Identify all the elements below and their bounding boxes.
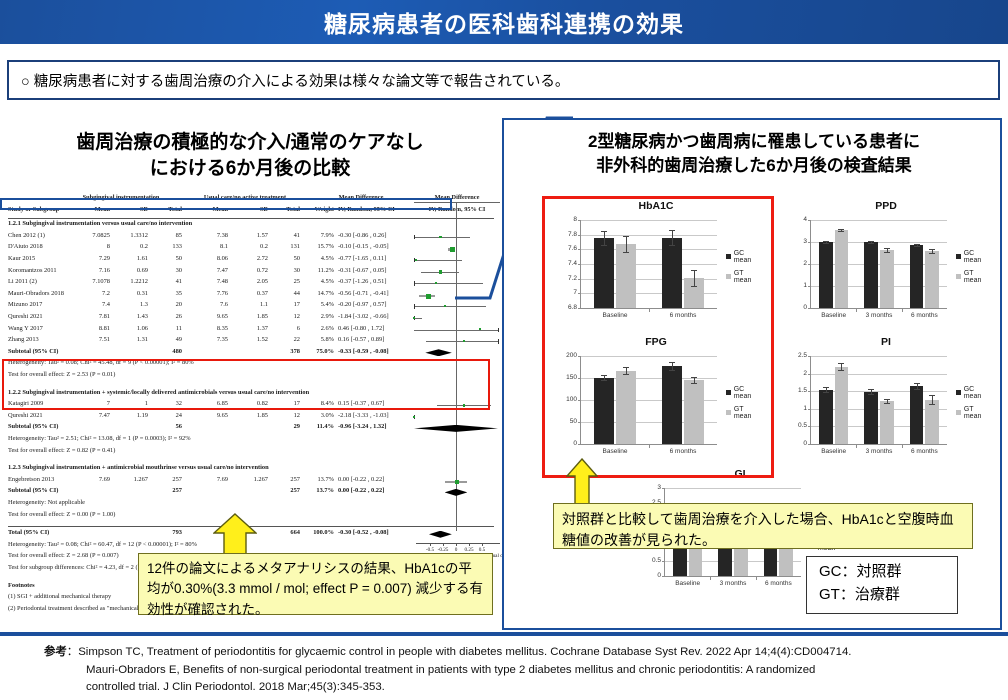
forest-axis-label: 0.5 — [476, 547, 488, 553]
lead-statement-box: ○ 糖尿病患者に対する歯周治療の介入による効果は様々な論文等で報告されている。 — [7, 60, 1000, 100]
forest-eff-text: Test for overall effect: Z = 0.00 (P = 1… — [8, 511, 115, 518]
error-cap — [823, 392, 829, 393]
forest-cell: 6 — [272, 325, 300, 332]
forest-group-g2: Usual care/no active treatment — [184, 194, 306, 201]
forest-cell: 0.46 [-0.80 , 1.72] — [338, 325, 414, 332]
forest-point-estimate — [463, 340, 465, 342]
forest-cell: 257 — [272, 487, 300, 494]
error-cap — [601, 380, 607, 381]
forest-cell: 1.19 — [110, 412, 148, 419]
forest-footnote-text: (1) SGI + additional mechanical therapy — [8, 593, 111, 600]
forest-cell: 11.4% — [304, 423, 334, 430]
error-cap — [669, 362, 675, 363]
gridline — [581, 235, 717, 236]
forest-cell: 131 — [272, 243, 300, 250]
forest-cell: 7.2 — [70, 290, 110, 297]
footer-rule — [0, 632, 1008, 636]
x-tick-label: Baseline — [662, 580, 714, 587]
left-panel-title: 歯周治療の積極的な介入/通常のケアなし における6か月後の比較 — [20, 130, 480, 181]
error-cap — [623, 367, 629, 368]
x-tick-label: Baseline — [808, 312, 860, 319]
error-cap — [868, 394, 874, 395]
legend-label: GC mean — [964, 386, 992, 400]
forest-col-4: Mean — [192, 206, 228, 213]
forest-cell: 1.267 — [232, 476, 268, 483]
forest-cell: 4.5% — [304, 278, 334, 285]
left-title-line1: 歯周治療の積極的な介入/通常のケアなし — [20, 130, 480, 156]
forest-het-text: Heterogeneity: Tau² = 0.08; Chi² = 45.48… — [8, 359, 194, 366]
x-tick-label: Baseline — [808, 448, 860, 455]
error-cap — [884, 252, 890, 253]
bar-gc — [819, 242, 833, 308]
forest-cell: 1.37 — [232, 325, 268, 332]
forest-cell: 7.9% — [304, 232, 334, 239]
y-tick-label: 3 — [639, 484, 661, 491]
forest-cell: 2.05 — [232, 278, 268, 285]
forest-cell: 7.0825 — [70, 232, 110, 239]
forest-col-7: Weight — [304, 206, 334, 213]
forest-cell: 49 — [152, 336, 182, 343]
error-cap — [691, 286, 697, 287]
y-tick-mark — [578, 378, 581, 379]
x-separator — [649, 444, 650, 448]
legend-swatch — [956, 274, 961, 279]
forest-het-text: Heterogeneity: Tau² = 2.51; Chi² = 13.08… — [8, 435, 191, 442]
forest-axis-label: 0.25 — [463, 547, 475, 553]
y-tick-label: 4 — [785, 216, 807, 223]
error-cap — [838, 363, 844, 364]
forest-axis-label: -0.25 — [437, 547, 449, 553]
forest-cell: 7.69 — [192, 476, 228, 483]
x-tick-label: Baseline — [589, 448, 641, 455]
legend-swatch — [726, 254, 731, 259]
legend-item: GC mean — [726, 250, 762, 264]
forest-cell: 0.16 [-0.57 , 0.89] — [338, 336, 414, 343]
legend-label: GC mean — [734, 386, 762, 400]
forest-cell: 378 — [272, 348, 300, 355]
gridline — [811, 220, 947, 221]
y-tick-mark — [808, 220, 811, 221]
forest-cell: 7.1078 — [70, 278, 110, 285]
y-tick-mark — [808, 356, 811, 357]
forest-cell: 30 — [152, 267, 182, 274]
error-cap — [669, 245, 675, 246]
forest-col-3: Total — [152, 206, 182, 213]
error-bar — [672, 362, 673, 370]
y-tick-label: 6.8 — [555, 304, 577, 311]
forest-cell: 14.7% — [304, 290, 334, 297]
y-tick-mark — [808, 409, 811, 410]
chart-ppd: PPD01234Baseline3 months6 monthsGC meanG… — [780, 202, 992, 330]
forest-cell: 0.15 [-0.37 , 0.67] — [338, 400, 414, 407]
forest-ci-line — [414, 330, 498, 331]
y-tick-label: 0 — [555, 440, 577, 447]
error-bar — [932, 395, 933, 403]
forest-cell: 11.2% — [304, 267, 334, 274]
forest-point-estimate — [439, 236, 442, 239]
forest-cell: Subtotal (95% CI) — [8, 487, 118, 494]
bar-gt — [880, 250, 894, 308]
bar-gc — [662, 366, 682, 444]
forest-cell: 0.00 [-0.22 , 0.22] — [338, 487, 414, 494]
forest-cell: 12 — [272, 313, 300, 320]
footer-references: 参考：Simpson TC, Treatment of periodontiti… — [44, 644, 994, 697]
forest-cell: 17 — [272, 301, 300, 308]
forest-section-title: 1.2.3 Subgingival instrumentation + anti… — [8, 464, 269, 471]
forest-cell: 0.37 — [232, 290, 268, 297]
up-arrow-right-icon — [566, 458, 598, 506]
forest-cell: 7.47 — [192, 267, 228, 274]
forest-cell: 7.35 — [192, 336, 228, 343]
forest-cell: 0.31 — [110, 290, 148, 297]
forest-cell: 0.72 — [232, 267, 268, 274]
gridline — [581, 356, 717, 357]
forest-cell: 85 — [152, 232, 182, 239]
forest-cell: 8.35 — [192, 325, 228, 332]
forest-cell: 75.0% — [304, 348, 334, 355]
chart-title: PPD — [780, 200, 992, 212]
forest-cell: 13.7% — [304, 476, 334, 483]
bar-gc — [662, 238, 682, 308]
y-tick-label: 1.5 — [785, 387, 807, 394]
x-tick-label: 6 months — [752, 580, 804, 587]
forest-cell: 8 — [70, 243, 110, 250]
forest-axis-line — [416, 543, 500, 544]
forest-cell: 11 — [152, 325, 182, 332]
forest-cell: 50 — [152, 255, 182, 262]
bar-gt — [616, 244, 636, 308]
chart-pi: PI00.511.522.5Baseline3 months6 monthsGC… — [780, 338, 992, 466]
y-tick-mark — [578, 279, 581, 280]
forest-cell: 7.48 — [192, 278, 228, 285]
forest-ci-arrow — [498, 339, 499, 343]
forest-cell: 7.6 — [192, 301, 228, 308]
forest-cell: -0.77 [-1.65 , 0.11] — [338, 255, 414, 262]
error-cap — [623, 374, 629, 375]
error-cap — [929, 395, 935, 396]
error-cap — [914, 389, 920, 390]
legend-item: GC mean — [726, 386, 762, 400]
error-cap — [929, 404, 935, 405]
forest-cell: 50 — [272, 255, 300, 262]
y-tick-label: 7.6 — [555, 245, 577, 252]
y-tick-mark — [578, 422, 581, 423]
forest-cell: 7.69 — [70, 476, 110, 483]
forest-cell: Subtotal (95% CI) — [8, 423, 118, 430]
forest-cell: 32 — [152, 400, 182, 407]
x-tick-label: 6 months — [898, 448, 950, 455]
gridline — [811, 374, 947, 375]
forest-cell: 7.51 — [70, 336, 110, 343]
x-tick-label: 3 months — [853, 312, 905, 319]
y-tick-mark — [578, 264, 581, 265]
legend-label: GC mean — [964, 250, 992, 264]
forest-cell: 9.65 — [192, 313, 228, 320]
forest-point-estimate — [426, 294, 431, 299]
forest-cell: 2.6% — [304, 325, 334, 332]
gridline — [581, 220, 717, 221]
left-callout-text: 12件の論文によるメタアナリシスの結果、HbA1cの平均が0.30%(3.3 m… — [147, 561, 483, 617]
error-cap — [601, 375, 607, 376]
y-tick-label: 100 — [555, 396, 577, 403]
y-tick-label: 1 — [785, 405, 807, 412]
error-bar — [626, 236, 627, 252]
y-tick-label: 2 — [785, 370, 807, 377]
error-cap — [884, 248, 890, 249]
forest-cell: -0.31 [-0.67 , 0.05] — [338, 267, 414, 274]
error-cap — [929, 249, 935, 250]
y-tick-mark — [578, 220, 581, 221]
forest-footnotes-label: Footnotes — [8, 582, 35, 589]
forest-cell: 0.69 — [110, 267, 148, 274]
footer-line1: ：Simpson TC, Treatment of periodontitis … — [67, 646, 852, 658]
forest-point-estimate — [455, 480, 460, 485]
forest-point-estimate — [450, 247, 455, 252]
forest-cell: 7.47 — [70, 412, 110, 419]
forest-total-note-text: Test for overall effect: Z = 2.68 (P = 0… — [8, 552, 119, 559]
error-cap — [691, 270, 697, 271]
error-cap — [884, 399, 890, 400]
y-tick-mark — [578, 235, 581, 236]
forest-cell: 8.06 — [192, 255, 228, 262]
legend-item: GC mean — [956, 386, 992, 400]
forest-col-5: SD — [232, 206, 268, 213]
legend-swatch — [726, 410, 731, 415]
forest-cell: 41 — [152, 278, 182, 285]
forest-eff-text: Test for overall effect: Z = 2.53 (P = 0… — [8, 371, 115, 378]
forest-axis-label: 0 — [450, 547, 462, 553]
forest-section-title: 1.2.1 Subgingival instrumentation versus… — [8, 220, 192, 227]
forest-cell: 1 — [110, 400, 148, 407]
bar-gc — [819, 390, 833, 444]
legend-item: GT mean — [726, 406, 762, 420]
y-tick-label: 0 — [785, 440, 807, 447]
forest-cell: 30 — [272, 267, 300, 274]
forest-cell: 1.1 — [232, 301, 268, 308]
forest-cell: 20 — [152, 301, 182, 308]
y-tick-mark — [808, 264, 811, 265]
error-cap — [823, 387, 829, 388]
forest-cell: 9.65 — [192, 412, 228, 419]
forest-cell: 7.81 — [70, 313, 110, 320]
left-title-line2: における6か月後の比較 — [20, 156, 480, 182]
forest-section-title: 1.2.2 Subgingival instrumentation + syst… — [8, 389, 309, 396]
chart-fpg: FPG050100150200Baseline6 monthsGC meanGT… — [550, 338, 762, 466]
forest-cell: 1.57 — [232, 232, 268, 239]
forest-cell: 1.31 — [110, 336, 148, 343]
error-cap — [823, 241, 829, 242]
chart-legend: GC meanGT mean — [956, 250, 992, 290]
y-tick-mark — [808, 426, 811, 427]
forest-ci-arrow — [498, 328, 499, 332]
forest-cell: 12 — [272, 412, 300, 419]
forest-cell: -0.96 [-3.24 , 1.32] — [338, 423, 414, 430]
forest-cell: 1.267 — [110, 476, 148, 483]
gridline — [811, 356, 947, 357]
legend-swatch — [956, 254, 961, 259]
plot-area: 01234Baseline3 months6 months — [810, 220, 946, 308]
forest-cell: 56 — [152, 423, 182, 430]
y-tick-label: 3 — [785, 238, 807, 245]
forest-cell: 1.3 — [110, 301, 148, 308]
chart-hba1c: HbA1C6.877.27.47.67.88Baseline6 monthsGC… — [550, 202, 762, 330]
forest-axis-label: -0.5 — [424, 547, 436, 553]
legend-swatch — [956, 390, 961, 395]
legend-label: GT mean — [964, 406, 992, 420]
bar-gc — [864, 242, 878, 308]
right-callout: 対照群と比較して歯周治療を介入した場合、HbA1cと空腹時血糖値の改善が見られた… — [553, 503, 973, 549]
x-tick-label: 6 months — [657, 448, 709, 455]
x-tick-label: 6 months — [898, 312, 950, 319]
right-callout-text: 対照群と比較して歯周治療を介入した場合、HbA1cと空腹時血糖値の改善が見られた… — [562, 511, 954, 548]
y-tick-mark — [578, 356, 581, 357]
y-tick-label: 50 — [555, 418, 577, 425]
y-tick-label: 0 — [639, 572, 661, 579]
right-panel: 2型糖尿病かつ歯周病に罹患している患者に 非外科的歯周治療した6か月後の検査結果… — [502, 118, 1002, 630]
forest-cell: -1.84 [-3.02 , -0.66] — [338, 313, 414, 320]
forest-cell: 24 — [152, 412, 182, 419]
forest-cell: 257 — [152, 476, 182, 483]
error-cap — [838, 231, 844, 232]
forest-cell: 480 — [152, 348, 182, 355]
footer-label: 参考 — [44, 646, 67, 658]
forest-cell: -0.20 [-0.97 , 0.57] — [338, 301, 414, 308]
forest-cell: 1.2212 — [110, 278, 148, 285]
forest-cell: 44 — [272, 290, 300, 297]
bar-gt — [880, 401, 894, 444]
forest-cell: 0.00 [-0.22 , 0.22] — [338, 476, 414, 483]
error-cap — [669, 370, 675, 371]
bar-gc — [910, 386, 924, 444]
error-bar — [626, 367, 627, 375]
forest-col-8: IV, Random, 95% CI — [338, 206, 414, 213]
error-cap — [691, 377, 697, 378]
error-cap — [929, 253, 935, 254]
forest-cell: 26 — [152, 313, 182, 320]
forest-cell: 35 — [152, 290, 182, 297]
chart-title: PI — [780, 336, 992, 348]
forest-col-1: Mean — [70, 206, 110, 213]
gridline — [665, 488, 801, 489]
forest-summary-diamond — [425, 349, 452, 356]
forest-cell: 100.0% — [304, 529, 334, 536]
x-tick-label: 6 months — [657, 312, 709, 319]
forest-cell: 1.43 — [110, 313, 148, 320]
forest-group-g1: Subgingival instrumentation — [56, 194, 186, 201]
y-tick-label: 0.5 — [785, 422, 807, 429]
y-tick-label: 200 — [555, 352, 577, 359]
chart-title: GI — [634, 468, 846, 480]
y-tick-label: 8 — [555, 216, 577, 223]
y-tick-label: 7.8 — [555, 231, 577, 238]
forest-cell: 7.29 — [70, 255, 110, 262]
forest-cell: 41 — [272, 232, 300, 239]
y-tick-label: 150 — [555, 374, 577, 381]
y-tick-label: 0 — [785, 304, 807, 311]
bar-gt — [835, 367, 849, 444]
forest-cell: 4.5% — [304, 255, 334, 262]
chart-legend: GC meanGT mean — [956, 386, 992, 426]
plot-area: 6.877.27.47.67.88Baseline6 months — [580, 220, 716, 308]
page-title: 糖尿病患者の医科歯科連携の効果 — [0, 0, 1008, 44]
error-cap — [669, 230, 675, 231]
forest-total-note-text: Heterogeneity: Tau² = 0.08; Chi² = 60.47… — [8, 541, 197, 548]
forest-eff-text: Test for overall effect: Z = 0.82 (P = 0… — [8, 447, 115, 454]
forest-cell: 257 — [152, 487, 182, 494]
forest-cell: 257 — [272, 476, 300, 483]
forest-point-estimate — [439, 270, 443, 274]
bar-gt — [925, 400, 939, 444]
chart-title: FPG — [550, 336, 762, 348]
error-cap — [838, 370, 844, 371]
y-tick-label: 2 — [785, 260, 807, 267]
forest-point-estimate — [413, 416, 415, 418]
error-bar — [694, 270, 695, 286]
y-tick-mark — [808, 374, 811, 375]
forest-cell: 7.16 — [70, 267, 110, 274]
key-line-gc: GC：対照群 — [819, 560, 957, 583]
forest-cell: 17 — [272, 400, 300, 407]
forest-cell: 1.85 — [232, 313, 268, 320]
forest-cell: 793 — [152, 529, 182, 536]
forest-cell: 8.4% — [304, 400, 334, 407]
x-tick-label: Baseline — [589, 312, 641, 319]
forest-cell: -0.33 [-0.59 , -0.08] — [338, 348, 414, 355]
legend-label: GT mean — [964, 270, 992, 284]
forest-cell: 6.85 — [192, 400, 228, 407]
error-cap — [691, 383, 697, 384]
forest-cell: 5.4% — [304, 301, 334, 308]
forest-cell: 0.2 — [232, 243, 268, 250]
right-title-line1: 2型糖尿病かつ歯周病に罹患している患者に — [504, 130, 1004, 154]
y-tick-mark — [578, 400, 581, 401]
forest-cell: -0.37 [-1.26 , 0.51] — [338, 278, 414, 285]
y-tick-label: 2.5 — [785, 352, 807, 359]
forest-cell: 13.7% — [304, 487, 334, 494]
bar-gc — [910, 245, 924, 308]
y-tick-mark — [662, 561, 665, 562]
error-cap — [601, 245, 607, 246]
x-tick-label: 3 months — [707, 580, 759, 587]
forest-cell: 25 — [272, 278, 300, 285]
error-cap — [601, 231, 607, 232]
legend-item: GT mean — [956, 406, 992, 420]
forest-point-estimate — [479, 328, 481, 330]
forest-cell: 1.3312 — [110, 232, 148, 239]
right-panel-title: 2型糖尿病かつ歯周病に罹患している患者に 非外科的歯周治療した6か月後の検査結果 — [504, 130, 1004, 178]
forest-plot: Subgingival instrumentationUsual care/no… — [6, 194, 496, 544]
y-tick-label: 7.4 — [555, 260, 577, 267]
y-tick-label: 7.2 — [555, 275, 577, 282]
legend-label: GC mean — [734, 250, 762, 264]
forest-cell: 0.82 — [232, 400, 268, 407]
error-cap — [914, 383, 920, 384]
forest-cell: 3.0% — [304, 412, 334, 419]
legend-label: GT mean — [734, 406, 762, 420]
left-callout: 12件の論文によるメタアナリシスの結果、HbA1cの平均が0.30%(3.3 m… — [138, 553, 493, 615]
forest-cell: -0.10 [-0.15 , -0.05] — [338, 243, 414, 250]
legend-swatch — [726, 274, 731, 279]
error-cap — [623, 236, 629, 237]
y-tick-label: 1 — [785, 282, 807, 289]
error-cap — [838, 229, 844, 230]
y-tick-mark — [578, 293, 581, 294]
forest-cell: 7 — [70, 400, 110, 407]
forest-point-estimate — [444, 305, 446, 307]
forest-het-text: Heterogeneity: Not applicable — [8, 499, 85, 506]
y-tick-mark — [808, 286, 811, 287]
forest-cell: 7.4 — [70, 301, 110, 308]
